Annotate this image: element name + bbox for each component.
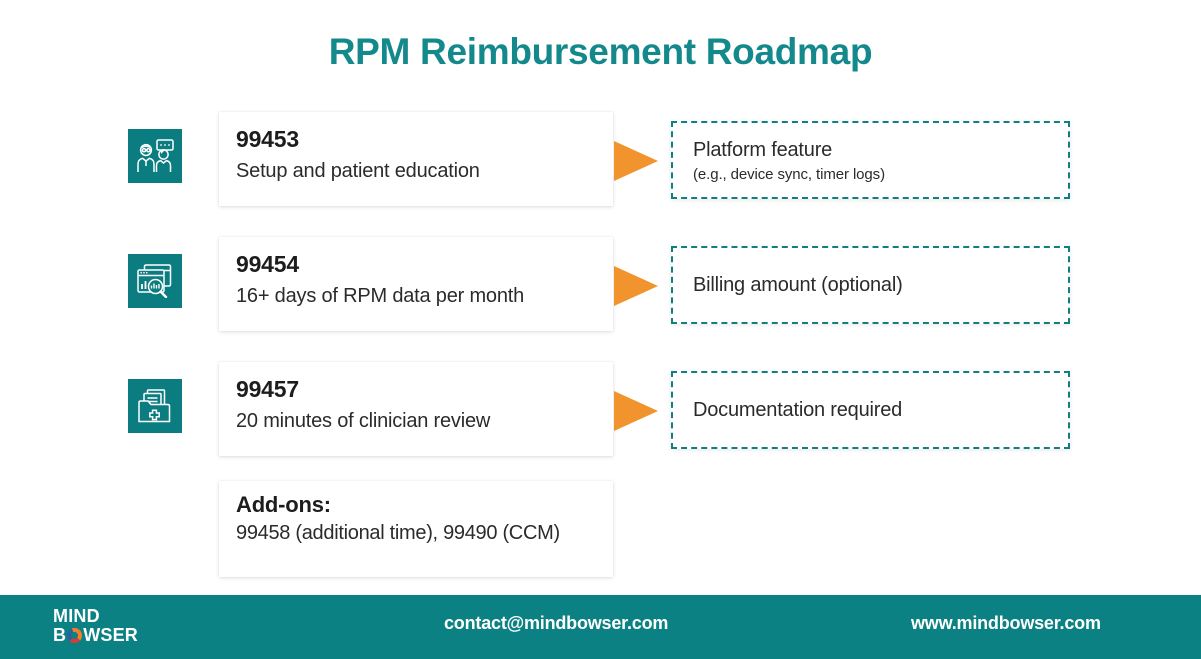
outcome-box[interactable]: Billing amount (optional): [671, 246, 1070, 324]
roadmap-row: 99453 Setup and patient education Platfo…: [0, 112, 1201, 208]
cpt-code-description: 16+ days of RPM data per month: [236, 281, 613, 311]
footer-bar: MIND BWSER contact@mindbowser.com www.mi…: [0, 595, 1201, 659]
arrow-right-icon: [614, 141, 658, 181]
cpt-code-card[interactable]: 99453 Setup and patient education: [219, 112, 613, 206]
cpt-code-number: 99453: [236, 124, 613, 154]
outcome-title: Documentation required: [693, 396, 1068, 424]
footer-website-url[interactable]: www.mindbowser.com: [911, 613, 1101, 634]
roadmap-row: 99454 16+ days of RPM data per month Bil…: [0, 237, 1201, 333]
cpt-code-card[interactable]: 99457 20 minutes of clinician review: [219, 362, 613, 456]
cpt-code-card[interactable]: 99454 16+ days of RPM data per month: [219, 237, 613, 331]
mindbowser-logo[interactable]: MIND BWSER: [53, 607, 138, 645]
logo-line-mind: MIND: [53, 607, 138, 626]
cpt-code-description: 20 minutes of clinician review: [236, 406, 613, 436]
cpt-code-number: 99454: [236, 249, 613, 279]
outcome-subtitle: (e.g., device sync, timer logs): [693, 164, 1068, 185]
doctor-patient-consultation-icon: [128, 129, 182, 183]
page-title: RPM Reimbursement Roadmap: [0, 28, 1201, 76]
outcome-title: Platform feature: [693, 136, 1068, 164]
arrow-right-icon: [614, 391, 658, 431]
arrow-right-icon: [614, 266, 658, 306]
cpt-code-number: 99457: [236, 374, 613, 404]
roadmap-row: 99457 20 minutes of clinician review Doc…: [0, 362, 1201, 458]
addons-text: 99458 (additional time), 99490 (CCM): [236, 519, 597, 547]
logo-circle-mark: [67, 628, 82, 643]
addons-card[interactable]: Add-ons: 99458 (additional time), 99490 …: [219, 481, 613, 577]
cpt-code-description: Setup and patient education: [236, 156, 613, 186]
addons-label: Add-ons:: [236, 490, 597, 519]
outcome-box[interactable]: Documentation required: [671, 371, 1070, 449]
medical-records-folder-icon: [128, 379, 182, 433]
logo-letter-b: B: [53, 626, 66, 645]
footer-contact-email[interactable]: contact@mindbowser.com: [444, 613, 668, 634]
logo-line-bowser: BWSER: [53, 626, 138, 645]
outcome-box[interactable]: Platform feature (e.g., device sync, tim…: [671, 121, 1070, 199]
infographic-canvas: RPM Reimbursement Roadmap: [0, 0, 1201, 659]
outcome-title: Billing amount (optional): [693, 271, 1068, 299]
data-analytics-magnifier-icon: [128, 254, 182, 308]
logo-letters-wser: WSER: [83, 626, 138, 645]
